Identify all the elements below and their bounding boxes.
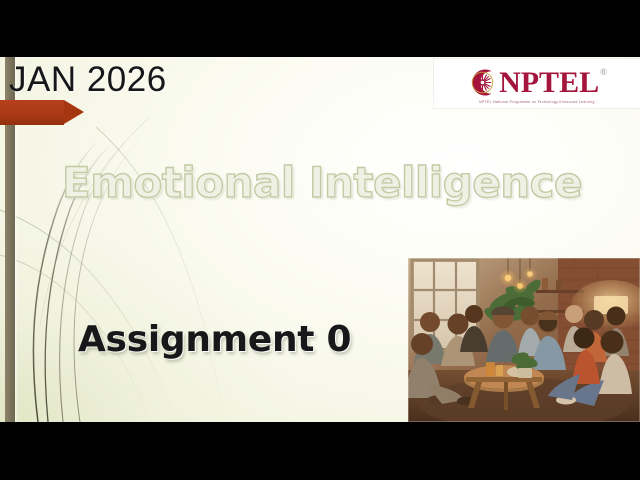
date-arrow-banner — [0, 100, 84, 125]
presentation-slide: JAN 2026 — [0, 57, 640, 422]
date-arrow-body — [0, 100, 64, 125]
letterbox-top — [0, 0, 640, 57]
letterbox-bottom — [0, 422, 640, 480]
nptel-logo-row: NPTEL ® — [467, 66, 607, 100]
nptel-logo: NPTEL ® NPTEL National Programme on Tech… — [434, 59, 640, 108]
slide-date-label: JAN 2026 — [9, 60, 167, 100]
registered-trademark-icon: ® — [600, 68, 607, 77]
group-discussion-photo — [408, 258, 640, 422]
slide-title: Emotional Intelligence — [62, 158, 582, 208]
slide-subtitle: Assignment 0 — [78, 318, 351, 362]
nptel-wordmark: NPTEL — [499, 67, 599, 98]
date-arrow-head — [64, 100, 84, 124]
nptel-logo-inner: NPTEL ® NPTEL National Programme on Tech… — [434, 59, 640, 108]
video-viewport: JAN 2026 — [0, 0, 640, 480]
nptel-tagline: NPTEL National Programme on Technology E… — [479, 99, 595, 104]
nptel-chakra-emblem-icon — [467, 67, 498, 98]
